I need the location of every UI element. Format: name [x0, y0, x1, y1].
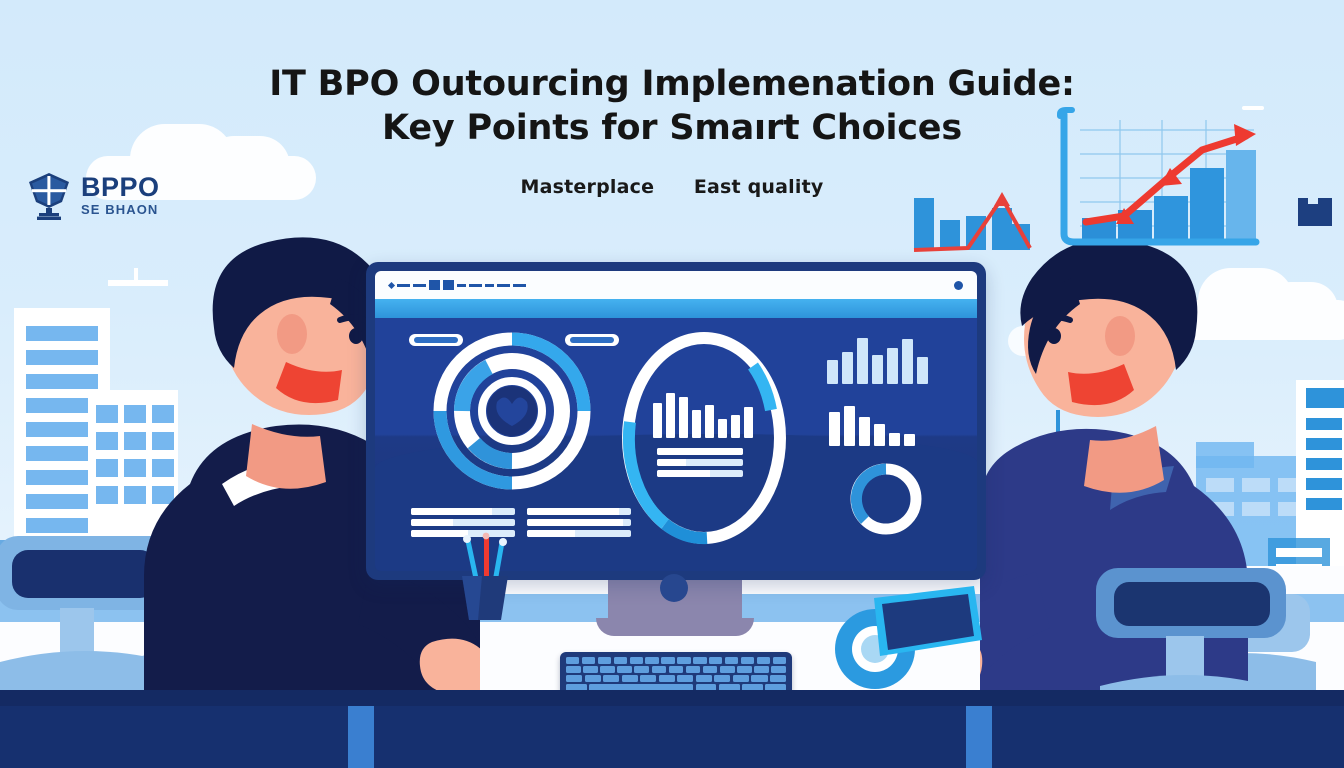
window-dot-icon[interactable] — [954, 281, 963, 290]
dashboard-center-bars — [653, 382, 753, 438]
headline-block: IT BPO Outourcing Implemenation Guide: K… — [0, 62, 1344, 198]
dashboard-center-ring[interactable] — [621, 330, 787, 546]
dashboard-right-bars-top — [827, 332, 928, 384]
illustration-canvas: BPPO SE BHAON IT BPO Outourcing Implemen… — [0, 0, 1344, 768]
mini-peak-chart — [906, 190, 1036, 260]
desk-front-edge — [0, 690, 1344, 706]
dashboard-small-donut[interactable] — [845, 458, 927, 540]
dashboard-donut-outer[interactable] — [427, 326, 597, 496]
desk-under-shadow — [0, 706, 1344, 768]
dashboard-center-legend — [657, 448, 743, 477]
subtitle-left: Masterplace — [521, 176, 655, 198]
logo-tagline: SE BHAON — [81, 203, 160, 216]
desk-leg-right — [966, 706, 992, 768]
monitor-screen — [375, 271, 977, 571]
browser-address-bar[interactable] — [375, 271, 977, 299]
dashboard-legend-left-2 — [527, 508, 631, 537]
monitor-stand-base — [596, 618, 754, 636]
pen-holder — [448, 532, 518, 626]
title-line-1: IT BPO Outourcing Implemenation Guide: — [0, 62, 1344, 106]
box-icon — [1296, 194, 1336, 230]
tablet-device[interactable] — [866, 582, 986, 668]
dashboard-right-bars-bottom — [829, 400, 915, 446]
url-glyph-text — [389, 280, 526, 290]
browser-accent-strip — [375, 299, 977, 318]
subtitle-right: East quality — [694, 176, 824, 198]
desk-leg-left — [348, 706, 374, 768]
title-line-2: Key Points for Smaırt Choices — [0, 106, 1344, 150]
monitor-power-button[interactable] — [660, 574, 688, 602]
subtitle-row: Masterplace East quality — [0, 176, 1344, 198]
